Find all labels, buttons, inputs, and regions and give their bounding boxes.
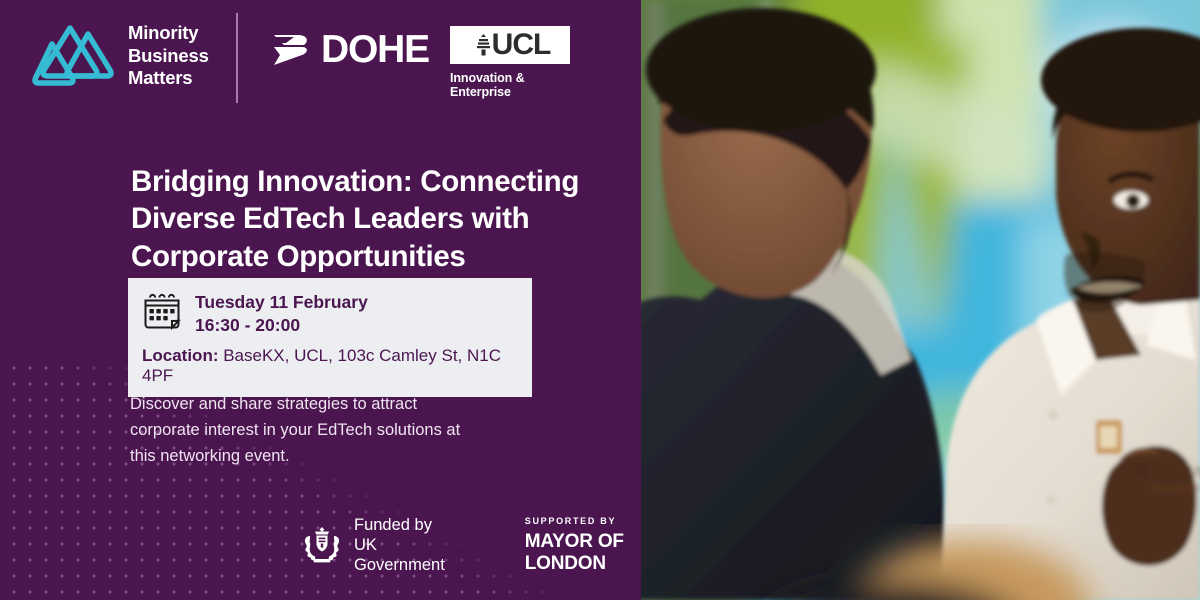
three-overlapping-triangles-icon: [32, 20, 116, 92]
ucl-crest-icon: [476, 33, 491, 57]
footer-logos: Funded by UK Government SUPPORTED BY MAY…: [300, 515, 641, 575]
funded-by-text: Funded by UK Government: [354, 515, 445, 575]
svg-text:Surve: Surve: [1153, 457, 1200, 484]
event-photo: Surve PROPERTY CARE: [641, 0, 1200, 600]
event-details-box: Tuesday 11 February 16:30 - 20:00 Locati…: [128, 278, 532, 397]
event-datetime: Tuesday 11 February 16:30 - 20:00: [195, 291, 368, 338]
dohe-wordmark: DOHE: [321, 30, 429, 69]
supported-by-label: SUPPORTED BY: [525, 516, 641, 526]
event-date: Tuesday 11 February: [195, 292, 368, 312]
mbm-wordmark: Minority Business Matters: [128, 22, 209, 90]
title-line-2: Diverse EdTech Leaders with: [131, 202, 529, 235]
mbm-line-1: Minority: [128, 22, 198, 43]
mbm-line-2: Business: [128, 45, 209, 66]
svg-text:PROPERTY CARE: PROPERTY CARE: [1151, 484, 1200, 494]
page-title: Bridging Innovation: Connecting Diverse …: [131, 163, 631, 275]
description-line-2: corporate interest in your EdTech soluti…: [130, 421, 460, 439]
description-line-3: this networking event.: [130, 447, 290, 465]
funded-line-1: Funded by: [354, 516, 432, 534]
uk-royal-crest-icon: [300, 525, 344, 565]
ucl-box: UCL: [450, 26, 570, 64]
event-location: Location: BaseKX, UCL, 103c Camley St, N…: [142, 346, 518, 387]
mayor-of-london-wordmark: MAYOR OF LONDON: [525, 531, 641, 575]
event-when-row: Tuesday 11 February 16:30 - 20:00: [142, 291, 518, 338]
location-label: Location:: [142, 346, 219, 365]
logo-divider: [236, 13, 238, 103]
funded-by-uk-government-logo: Funded by UK Government: [300, 515, 445, 575]
ucl-subtitle: Innovation & Enterprise: [450, 71, 580, 99]
content-panel: Minority Business Matters DOHE: [0, 0, 641, 600]
dohe-logo: DOHE: [272, 30, 429, 69]
event-time: 16:30 - 20:00: [195, 315, 300, 335]
logo-bar: Minority Business Matters DOHE: [0, 0, 641, 118]
calendar-icon: [142, 292, 182, 332]
event-description: Discover and share strategies to attract…: [130, 391, 520, 469]
ucl-logo: UCL Innovation & Enterprise: [450, 26, 580, 99]
mayor-of-london-logo: SUPPORTED BY MAYOR OF LONDON: [525, 516, 641, 575]
mbm-line-3: Matters: [128, 67, 192, 88]
event-poster: Surve PROPERTY CARE: [0, 0, 1200, 600]
dohe-chevron-icon: [272, 33, 312, 67]
description-line-1: Discover and share strategies to attract: [130, 395, 417, 413]
title-line-1: Bridging Innovation: Connecting: [131, 165, 579, 198]
title-line-3: Corporate Opportunities: [131, 240, 465, 273]
minority-business-matters-logo: Minority Business Matters: [32, 20, 209, 92]
funded-line-2: UK Government: [354, 536, 445, 574]
